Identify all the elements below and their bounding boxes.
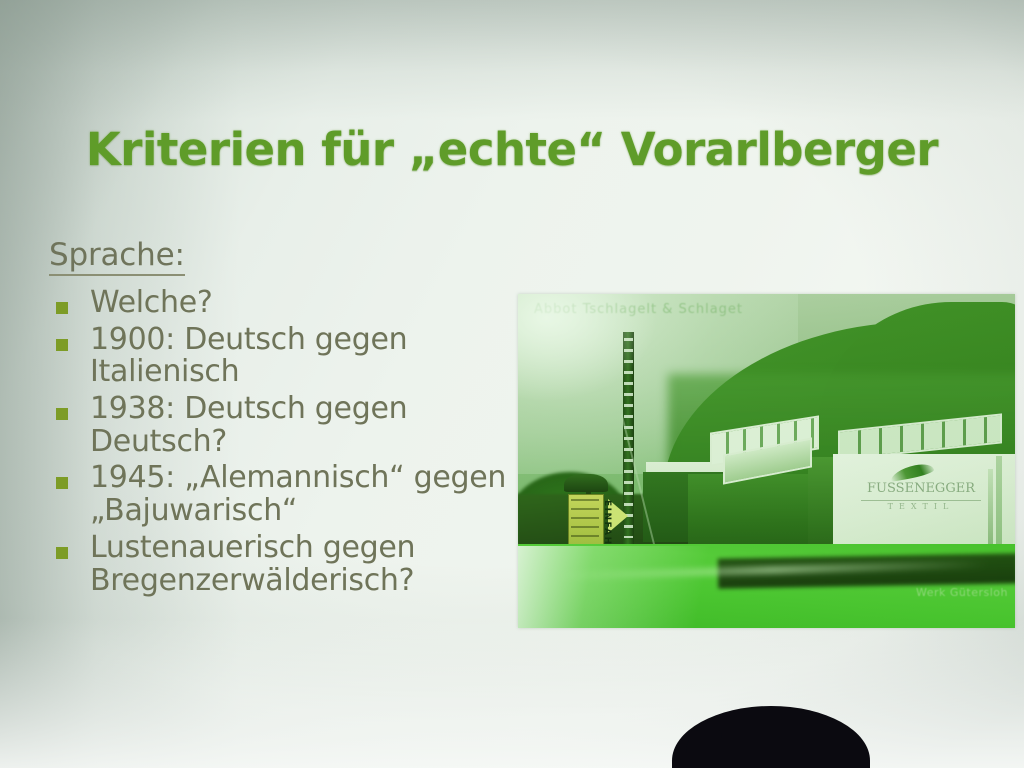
list-item: Lustenauerisch gegen Bregenzerwälderisch…	[49, 532, 519, 597]
photo-sign-cap	[564, 474, 608, 492]
square-bullet-icon	[56, 547, 68, 559]
list-item: 1900: Deutsch gegen Italienisch	[49, 324, 519, 389]
square-bullet-icon	[56, 339, 68, 351]
projected-slide-photo: Kriterien für „echte“ Vorarlberger Sprac…	[0, 0, 1024, 768]
slide-photograph: Fussenegger TEXTIL EINFAHRT Abbot Tschla…	[518, 294, 1015, 628]
photo-logo-subtitle: TEXTIL	[856, 502, 986, 511]
list-item: 1938: Deutsch gegen Deutsch?	[49, 393, 519, 458]
photo-logo-name: Fussenegger	[856, 476, 986, 497]
photo-caption-top: Abbot Tschlagelt & Schlaget	[534, 302, 794, 317]
list-item-label: Welche?	[90, 285, 213, 320]
list-item-label: 1900: Deutsch gegen Italienisch	[90, 322, 407, 390]
slide-body: Sprache: Welche? 1900: Deutsch gegen Ita…	[49, 240, 519, 601]
list-item-label: Lustenauerisch gegen Bregenzerwälderisch…	[90, 530, 415, 598]
list-item: Welche?	[49, 287, 519, 320]
square-bullet-icon	[56, 408, 68, 420]
square-bullet-icon	[56, 302, 68, 314]
bullet-list: Welche? 1900: Deutsch gegen Italienisch …	[49, 287, 519, 597]
photo-logo-rule	[861, 500, 981, 501]
photo-caption-bottom: Werk Gütersloh	[858, 586, 1008, 599]
photo-company-logo: Fussenegger TEXTIL	[856, 476, 986, 522]
list-item-label: 1938: Deutsch gegen Deutsch?	[90, 391, 407, 459]
list-item: 1945: „Alemannisch“ gegen „Bajuwarisch“	[49, 462, 519, 527]
square-bullet-icon	[56, 477, 68, 489]
section-heading-sprache: Sprache:	[49, 240, 185, 276]
list-item-label: 1945: „Alemannisch“ gegen „Bajuwarisch“	[90, 460, 506, 528]
photo-ground-highlight	[518, 546, 778, 628]
slide-title: Kriterien für „echte“ Vorarlberger	[0, 126, 1024, 173]
audience-head-silhouette-ear	[686, 730, 722, 768]
